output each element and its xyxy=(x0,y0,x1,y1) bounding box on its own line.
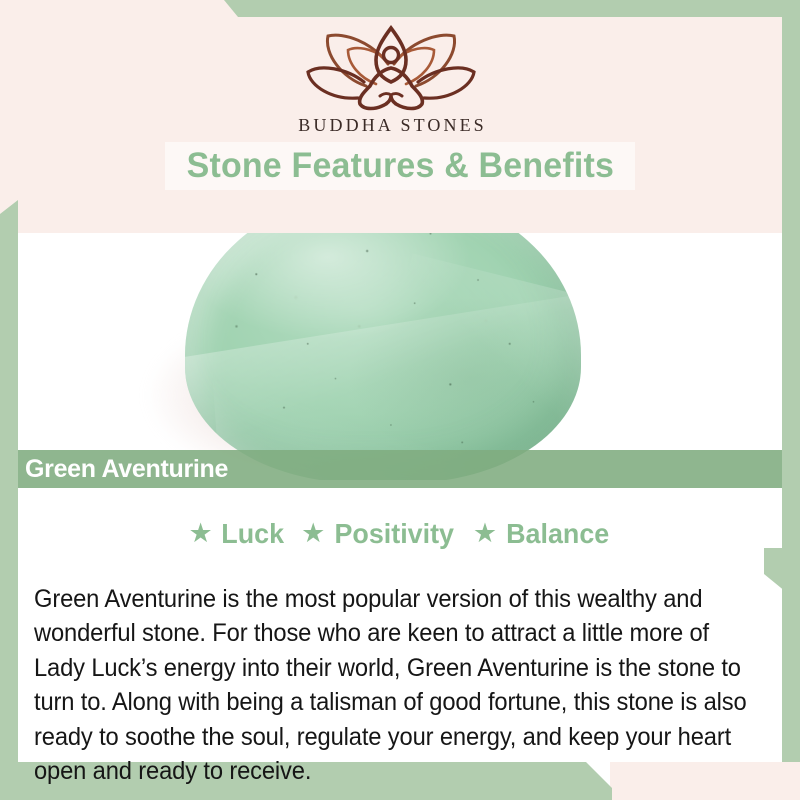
star-icon: ★ xyxy=(473,520,497,547)
keyword-item-positivity: ★ Positivity xyxy=(301,518,457,550)
green-left-accent-bar xyxy=(0,200,18,780)
product-name-label: Green Aventurine xyxy=(25,455,228,484)
keyword-list: ★ Luck ★ Positivity ★ Balance xyxy=(18,518,782,550)
brand-name: BUDDHA STONES xyxy=(0,115,782,136)
keyword-label: Balance xyxy=(506,518,609,550)
product-description: Green Aventurine is the most popular ver… xyxy=(34,583,756,790)
star-icon: ★ xyxy=(301,520,325,547)
keyword-item-balance: ★ Balance xyxy=(473,518,612,550)
green-aventurine-stone xyxy=(185,233,581,480)
product-info-card: BUDDHA STONES Stone Features & Benefits … xyxy=(0,0,800,800)
green-right-accent-bar xyxy=(782,0,800,800)
keyword-item-luck: ★ Luck xyxy=(189,518,286,550)
keyword-label: Luck xyxy=(221,518,284,550)
page-title: Stone Features & Benefits xyxy=(186,146,613,186)
brand-logo: BUDDHA STONES xyxy=(0,24,782,136)
product-name-bar: Green Aventurine xyxy=(18,450,782,488)
keyword-label: Positivity xyxy=(335,518,455,550)
product-image xyxy=(18,233,782,480)
section-title-banner: Stone Features & Benefits xyxy=(165,142,635,190)
lotus-meditation-icon xyxy=(302,24,480,112)
stone-speckle-texture xyxy=(185,233,581,480)
star-icon: ★ xyxy=(189,520,213,547)
